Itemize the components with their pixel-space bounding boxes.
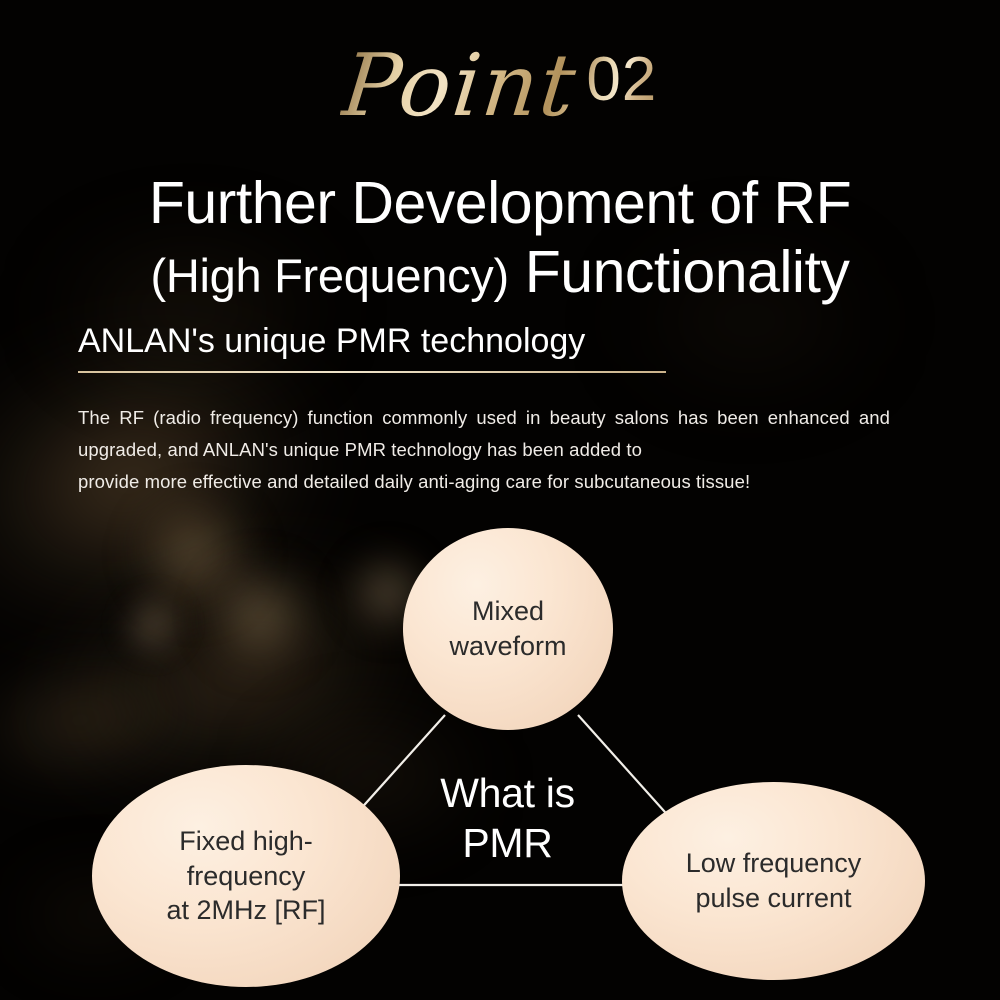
- node-line-1: Mixed: [449, 594, 566, 629]
- body-paragraph-line-3: provide more effective and detailed dail…: [78, 466, 890, 498]
- diagram-node-label: Low frequency pulse current: [686, 846, 862, 915]
- body-paragraph-line-1: The RF (radio frequency) function common…: [78, 407, 759, 428]
- node-line-2: waveform: [449, 629, 566, 664]
- node-line-1: Fixed high-: [166, 824, 325, 859]
- diagram-node-fixed-high-frequency[interactable]: Fixed high- frequency at 2MHz [RF]: [92, 765, 400, 987]
- headline-rest: Functionality: [509, 239, 850, 305]
- body-paragraph: The RF (radio frequency) function common…: [78, 402, 890, 497]
- diagram-center-label: What is PMR: [395, 768, 620, 868]
- pmr-venn-diagram: Mixed waveform Fixed high- frequency at …: [0, 500, 1000, 1000]
- headline-line-2: (High Frequency) Functionality: [50, 238, 950, 307]
- headline-paren: (High Frequency): [151, 249, 509, 302]
- diagram-node-low-frequency-pulse-current[interactable]: Low frequency pulse current: [622, 782, 925, 980]
- slide-root: Point 02 Further Development of RF (High…: [0, 0, 1000, 1000]
- slide-content: Point 02 Further Development of RF (High…: [0, 0, 1000, 1000]
- subheading-divider: [78, 371, 666, 373]
- point-eyebrow: Point 02: [0, 26, 1000, 146]
- headline-line-1: Further Development of RF: [50, 169, 950, 238]
- node-line-3: at 2MHz [RF]: [166, 893, 325, 928]
- point-number: 02: [586, 49, 657, 111]
- node-line-2: pulse current: [686, 881, 862, 916]
- node-line-2: frequency: [166, 859, 325, 894]
- point-script-word: Point: [338, 43, 587, 129]
- diagram-node-label: Fixed high- frequency at 2MHz [RF]: [166, 824, 325, 928]
- diagram-node-label: Mixed waveform: [449, 594, 566, 663]
- center-label-line-1: What is: [440, 770, 575, 816]
- node-line-1: Low frequency: [686, 846, 862, 881]
- center-label-line-2: PMR: [462, 820, 552, 866]
- subheading: ANLAN's unique PMR technology: [78, 322, 668, 361]
- subheading-block: ANLAN's unique PMR technology: [78, 322, 668, 373]
- page-title: Further Development of RF (High Frequenc…: [50, 169, 950, 307]
- diagram-node-mixed-waveform[interactable]: Mixed waveform: [403, 528, 613, 730]
